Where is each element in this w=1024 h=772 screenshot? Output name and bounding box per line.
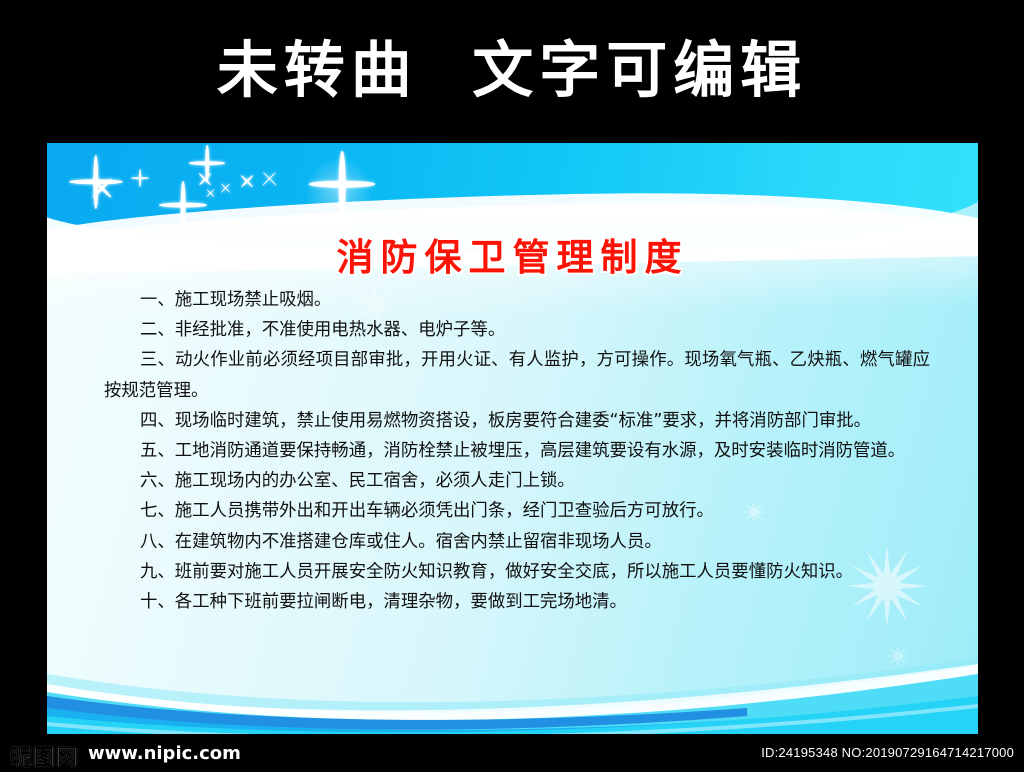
asset-id-text: ID:24195348 NO:20190729164714217000 <box>761 745 1014 760</box>
rule-item: 五、工地消防通道要保持畅通，消防栓禁止被埋压，高层建筑要设有水源，及时安装临时消… <box>104 436 930 466</box>
rule-item: 四、现场临时建筑，禁止使用易燃物资搭设，板房要符合建委“标准”要求，并将消防部门… <box>104 406 930 436</box>
rule-item: 七、施工人员携带外出和开出车辆必须凭出门条，经门卫查验后方可放行。 <box>104 496 930 526</box>
rule-item: 九、班前要对施工人员开展安全防火知识教育，做好安全交底，所以施工人员要懂防火知识… <box>104 557 930 587</box>
footer-bar: 昵图网 www.nipic.com ID:24195348 NO:2019072… <box>0 734 1024 771</box>
nipic-logo: 昵图网 <box>10 740 79 772</box>
rule-item: 一、施工现场禁止吸烟。 <box>104 285 930 315</box>
rule-item: 三、动火作业前必须经项目部审批，开用火证、有人监护，方可操作。现场氧气瓶、乙炔瓶… <box>104 345 930 405</box>
poster-title: 消防保卫管理制度 <box>47 227 978 281</box>
nipic-url: www.nipic.com <box>88 743 241 764</box>
rule-item: 八、在建筑物内不准搭建仓库或住人。宿舍内禁止留宿非现场人员。 <box>104 527 930 557</box>
poster-wave-decoration <box>47 604 978 734</box>
rule-item: 六、施工现场内的办公室、民工宿舍，必须人走门上锁。 <box>104 466 930 496</box>
screenshot-root: 未转曲 文字可编辑 <box>0 0 1024 771</box>
banner-headline: 未转曲 文字可编辑 <box>0 34 1024 108</box>
poster-board: 消防保卫管理制度 一、施工现场禁止吸烟。 二、非经批准，不准使用电热水器、电炉子… <box>47 143 978 734</box>
rule-item: 二、非经批准，不准使用电热水器、电炉子等。 <box>104 315 930 345</box>
rules-list: 一、施工现场禁止吸烟。 二、非经批准，不准使用电热水器、电炉子等。 三、动火作业… <box>104 285 930 617</box>
